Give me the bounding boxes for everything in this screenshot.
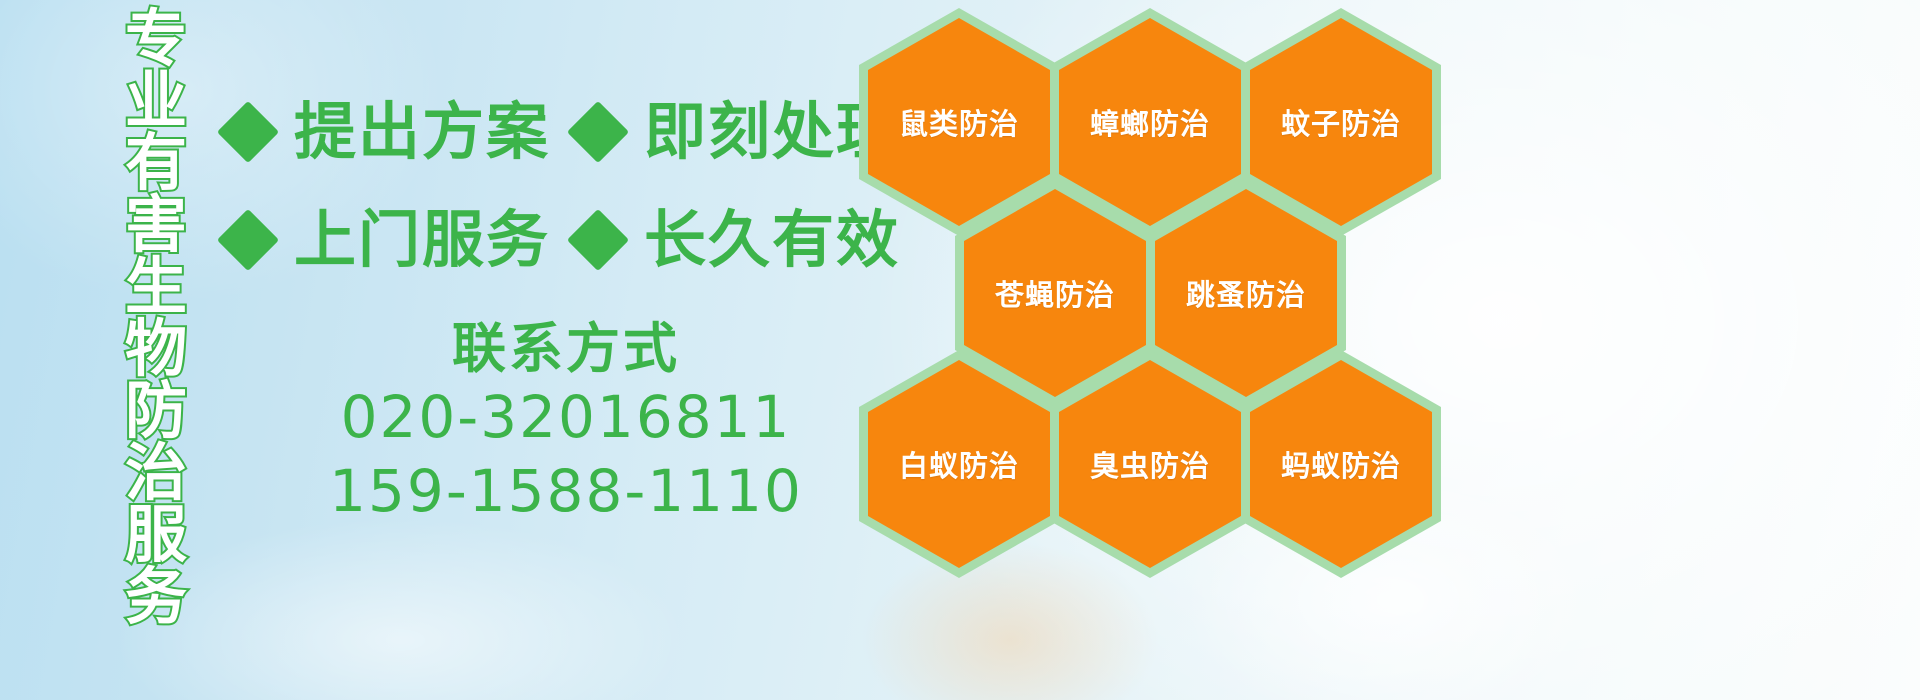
vertical-headline-char: 治 [125,442,187,504]
vertical-headline-char: 务 [125,566,187,628]
diamond-icon [217,209,279,271]
service-label: 苍蝇防治 [995,272,1115,314]
service-label: 跳蚤防治 [1186,272,1306,314]
diamond-icon [567,209,629,271]
service-label: 蚂蚁防治 [1281,443,1401,485]
feature-list: 提出方案 即刻处理 上门服务 长久有效 [226,78,886,294]
service-label: 蟑螂防治 [1090,101,1210,143]
vertical-headline-char: 害 [125,194,187,256]
service-label: 蚊子防治 [1281,101,1401,143]
diamond-icon [567,101,629,163]
phone-landline[interactable]: 020-32016811 [226,380,906,454]
vertical-headline-char: 业 [125,70,187,132]
service-honeycomb: 鼠类防治 蟑螂防治 蚊子防治 苍蝇防治 跳蚤防治 白蚁防治 臭虫防治 蚂蚁 [845,0,1485,700]
feature-label: 上门服务 [294,209,550,271]
feature-row-2: 上门服务 长久有效 [226,186,886,294]
pest-control-banner: 专 业 有 害 生 物 防 治 服 务 提出方案 即刻处理 上门服务 长久有效 … [0,0,1920,700]
vertical-headline-char: 专 [125,8,187,70]
feature-label: 提出方案 [294,101,550,163]
feature-row-1: 提出方案 即刻处理 [226,78,886,186]
background-glow-bottomleft [120,520,680,700]
vertical-headline-char: 物 [125,318,187,380]
vertical-headline-char: 生 [125,256,187,318]
contact-block: 联系方式 020-32016811 159-1588-1110 [226,318,906,529]
diamond-icon [217,101,279,163]
vertical-headline-char: 服 [125,504,187,566]
vertical-headline-char: 防 [125,380,187,442]
contact-label: 联系方式 [226,318,906,380]
service-label: 白蚁防治 [899,443,1019,485]
vertical-headline: 专 业 有 害 生 物 防 治 服 务 [108,8,204,568]
phone-mobile[interactable]: 159-1588-1110 [226,454,906,528]
service-label: 鼠类防治 [899,101,1019,143]
vertical-headline-char: 有 [125,132,187,194]
service-label: 臭虫防治 [1090,443,1210,485]
